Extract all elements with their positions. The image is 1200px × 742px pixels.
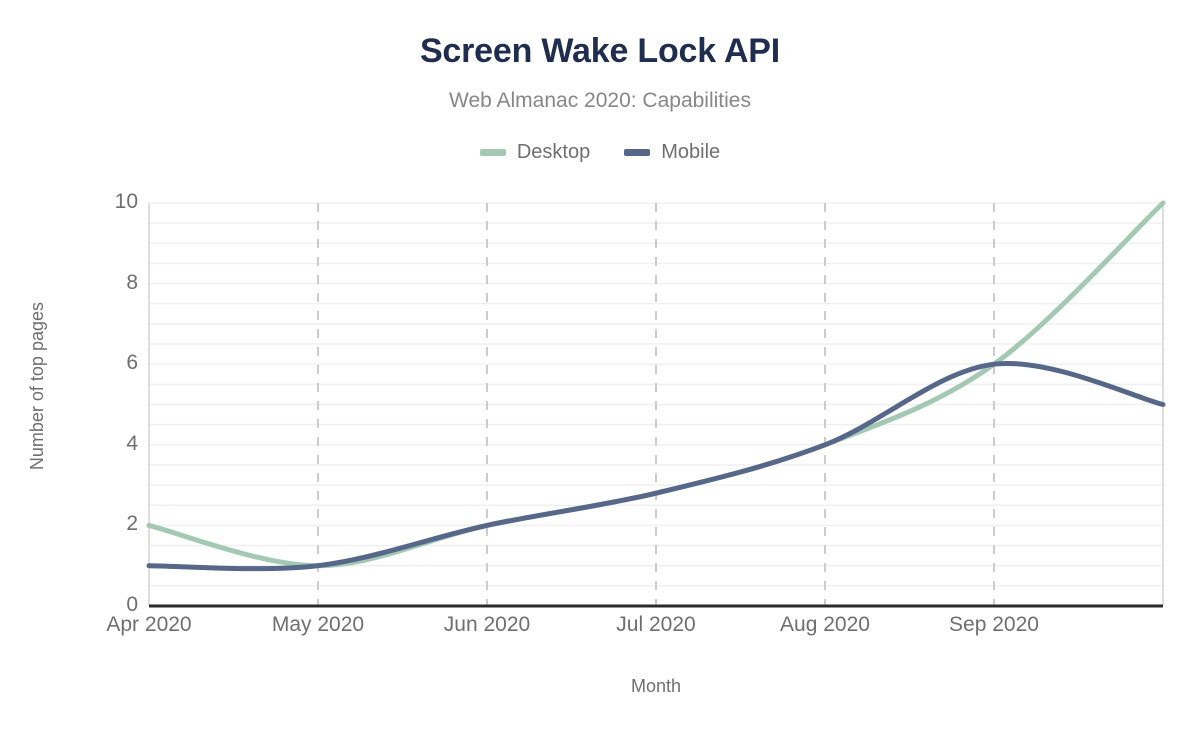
chart-container: Screen Wake Lock API Web Almanac 2020: C… [0,0,1200,742]
x-tick-label: Apr 2020 [59,613,239,637]
y-tick-label: 2 [78,512,138,536]
x-tick-label: Aug 2020 [735,613,915,637]
x-tick-label: Jun 2020 [397,613,577,637]
plot-area: Number of top pages Month 0246810 Apr 20… [0,0,1200,742]
x-tick-label: Jul 2020 [566,613,746,637]
x-tick-label: May 2020 [228,613,408,637]
y-tick-label: 10 [78,190,138,214]
y-tick-label: 6 [78,351,138,375]
series-line-mobile [149,363,1163,568]
y-tick-label: 8 [78,271,138,295]
y-tick-label: 4 [78,432,138,456]
x-tick-label: Sep 2020 [904,613,1084,637]
